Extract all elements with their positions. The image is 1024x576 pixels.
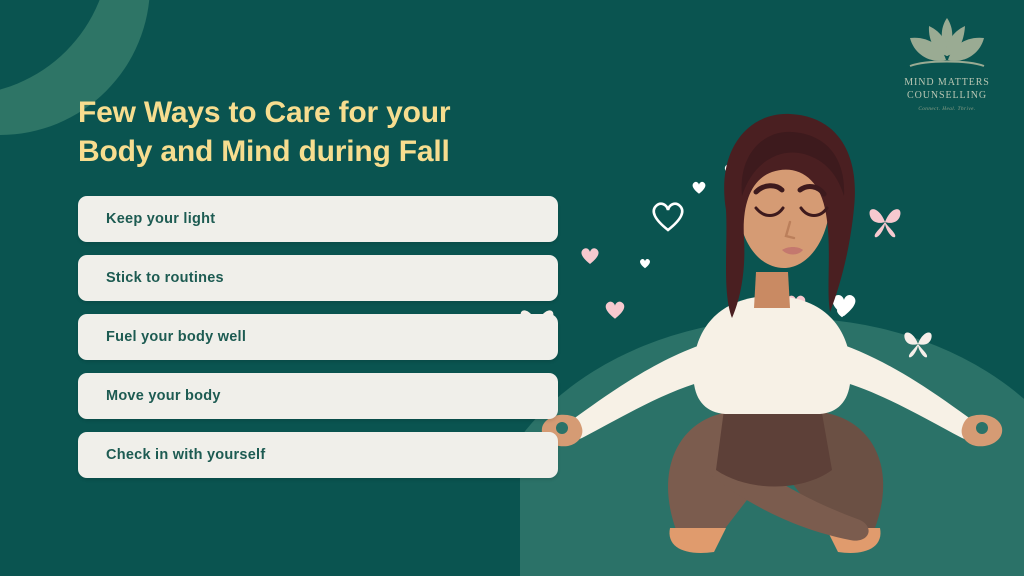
tips-list: Keep your light Stick to routines Fuel y…: [78, 196, 558, 491]
list-item-label: Keep your light: [78, 211, 215, 227]
list-item[interactable]: Check in with yourself: [78, 432, 558, 478]
list-item-label: Move your body: [78, 388, 221, 404]
foot-left: [669, 528, 726, 553]
list-item[interactable]: Keep your light: [78, 196, 558, 242]
logo-name-line-2: COUNSELLING: [886, 90, 1008, 103]
list-item-label: Fuel your body well: [78, 329, 246, 345]
logo-tagline: Connect. Heal. Thrive.: [886, 106, 1008, 112]
list-item-label: Stick to routines: [78, 270, 224, 286]
list-item-label: Check in with yourself: [78, 447, 265, 463]
neck: [754, 272, 790, 308]
blouse: [693, 296, 851, 414]
lotus-leaf-icon: [904, 14, 990, 76]
title-line-1: Few Ways to Care for your: [78, 96, 450, 129]
skirt: [716, 402, 832, 487]
slide-canvas: Few Ways to Care for your Body and Mind …: [0, 0, 1024, 576]
list-item[interactable]: Move your body: [78, 373, 558, 419]
list-item[interactable]: Fuel your body well: [78, 314, 558, 360]
sleeve-left: [566, 340, 716, 439]
page-title: Few Ways to Care for your Body and Mind …: [78, 93, 548, 171]
logo-name-line-1: MIND MATTERS: [886, 77, 1008, 90]
brand-logo: MIND MATTERS COUNSELLING Connect. Heal. …: [886, 14, 1008, 112]
list-item[interactable]: Stick to routines: [78, 255, 558, 301]
title-line-2: Body and Mind during Fall: [78, 132, 548, 171]
